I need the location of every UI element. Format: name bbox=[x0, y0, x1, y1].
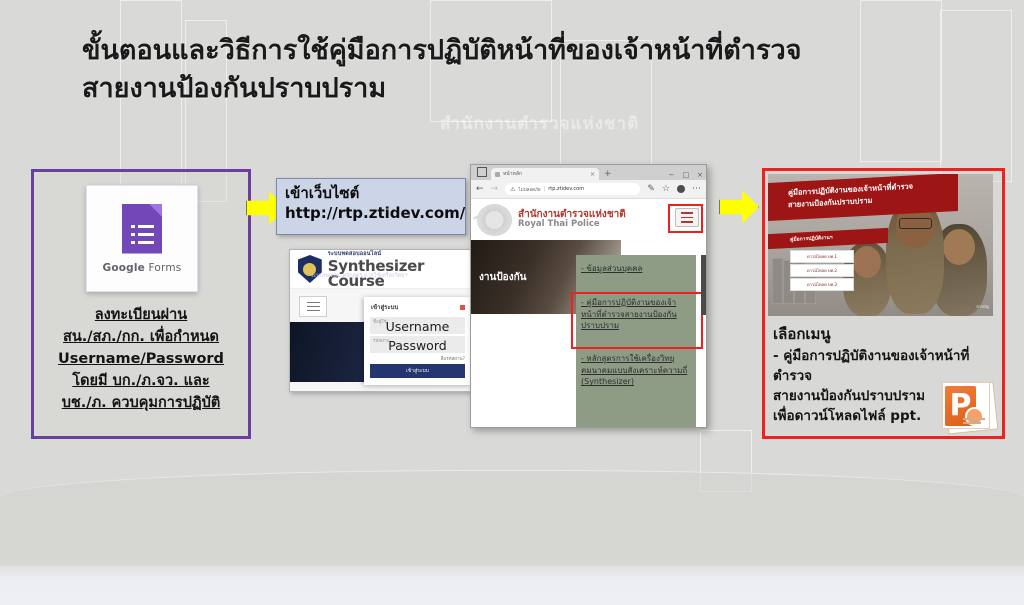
browser-tab-bar: หน้าหลัก × + − □ × bbox=[471, 165, 706, 180]
password-value: Password bbox=[370, 338, 465, 353]
browser-app-icon bbox=[477, 167, 487, 177]
tab-close-icon[interactable]: × bbox=[590, 171, 595, 178]
google-forms-label-word1: Google bbox=[103, 262, 145, 274]
login-site-titles: ระบบทดสอบออนไลน์ Synthesizer Course bbox=[328, 250, 472, 289]
site-hero-text: งานป้องกัน bbox=[479, 270, 526, 285]
police-emblem-icon bbox=[477, 204, 512, 236]
window-controls: − □ × bbox=[669, 171, 703, 179]
close-icon[interactable] bbox=[460, 305, 465, 310]
menu-item-personal-info[interactable]: - ข้อมูลส่วนบุคคล bbox=[576, 263, 696, 275]
step1-caption-line: ลงทะเบียนผ่าน bbox=[38, 304, 244, 326]
hamburger-highlight-box bbox=[668, 204, 703, 233]
website-url-label: เข้าเว็บไซต์ bbox=[285, 184, 465, 204]
login-dialog-title: เข้าสู่ระบบ bbox=[371, 302, 398, 312]
bg-building-shape bbox=[940, 10, 1012, 182]
address-bar[interactable]: ⚠ ไม่ปลอดภัย | rtp.ztidev.com bbox=[505, 183, 640, 195]
manual-corner-tag: สารบัญ bbox=[976, 303, 989, 310]
hamburger-menu-icon[interactable] bbox=[299, 296, 327, 317]
step1-caption: ลงทะเบียนผ่าน สน./สภ./กก. เพื่อกำหนด Use… bbox=[38, 304, 244, 414]
pencil-icon[interactable]: ✎ bbox=[647, 185, 655, 194]
page-scrollbar[interactable] bbox=[701, 255, 706, 315]
google-forms-card[interactable]: Google Forms bbox=[86, 185, 198, 292]
browser-page-content: สำนักงานตำรวจแห่งชาติ Royal Thai Police … bbox=[471, 199, 706, 428]
website-url-box: เข้าเว็บไซต์ http://rtp.ztidev.com/ bbox=[276, 178, 466, 235]
powerpoint-icon: P bbox=[940, 380, 996, 432]
step4-caption-header: เลือกเมนู bbox=[773, 323, 996, 346]
website-url-value: http://rtp.ztidev.com/ bbox=[285, 204, 465, 224]
login-site-header: ระบบทดสอบออนไลน์ Synthesizer Course bbox=[290, 250, 472, 289]
page-title-line2: สายงานป้องกันปราบปราม bbox=[82, 70, 882, 108]
kebab-menu-icon[interactable]: ⋯ bbox=[692, 185, 701, 194]
page-title: ขั้นตอนและวิธีการใช้คู่มือการปฏิบัติหน้า… bbox=[82, 32, 882, 109]
address-bar-url: rtp.ztidev.com bbox=[548, 186, 584, 192]
tab-favicon bbox=[495, 172, 500, 177]
login-hero-text: ระบบทดสอบ หลักสูตร การใช้เครื่องวิทยุฯ bbox=[304, 272, 414, 281]
new-tab-button[interactable]: + bbox=[604, 170, 612, 179]
forward-button[interactable]: → bbox=[491, 185, 499, 194]
forgot-password-link[interactable]: ลืมรหัสผ่าน? bbox=[364, 355, 465, 362]
username-value: Username bbox=[370, 319, 465, 334]
step1-panel: Google Forms ลงทะเบียนผ่าน สน./สภ./กก. เ… bbox=[31, 169, 251, 439]
window-close-button[interactable]: × bbox=[697, 171, 703, 179]
browser-window-screenshot: หน้าหลัก × + − □ × ← → ⚠ ไม่ปลอดภัย | rt… bbox=[470, 164, 707, 428]
step4-panel: STANDARD M คู่มือการปฏิบัติงานของเจ้าหน้… bbox=[762, 168, 1005, 439]
step1-caption-line: บช./ภ. ควบคุมการปฏิบัติ bbox=[38, 392, 244, 414]
google-forms-label-word2: Forms bbox=[149, 262, 182, 274]
menu-item-synthesizer-course[interactable]: - หลักสูตรการใช้เครื่องวิทยุคมนาคมแบบสัง… bbox=[576, 353, 696, 388]
login-dialog: เข้าสู่ระบบ ชื่อผู้ใช้ Username รหัสผ่าน… bbox=[364, 297, 471, 385]
tab-title: หน้าหลัก bbox=[503, 170, 587, 178]
login-screenshot: ระบบทดสอบออนไลน์ Synthesizer Course ระบบ… bbox=[289, 249, 473, 392]
download-button[interactable]: ดาวน์โหลด บท.3 bbox=[790, 278, 854, 291]
login-dialog-header: เข้าสู่ระบบ bbox=[364, 297, 471, 315]
page-title-line1: ขั้นตอนและวิธีการใช้คู่มือการปฏิบัติหน้า… bbox=[82, 35, 801, 66]
step1-caption-line: โดยมี บก./ภ.จว. และ bbox=[38, 370, 244, 392]
download-button[interactable]: ดาวน์โหลด บท.2 bbox=[790, 264, 854, 277]
login-submit-button[interactable]: เข้าสู่ระบบ bbox=[370, 364, 465, 378]
username-field[interactable]: ชื่อผู้ใช้ Username bbox=[370, 317, 465, 334]
avatar-icon[interactable] bbox=[677, 185, 685, 193]
background-watermark: สำนักงานตำรวจแห่งชาติ bbox=[440, 110, 639, 137]
browser-nav-bar: ← → ⚠ ไม่ปลอดภัย | rtp.ztidev.com ✎ ☆ ⋯ bbox=[471, 180, 706, 199]
address-separator: | bbox=[544, 186, 546, 192]
bg-ground-shape bbox=[0, 470, 1024, 566]
window-minimize-button[interactable]: − bbox=[669, 171, 675, 179]
google-forms-label: Google Forms bbox=[103, 262, 182, 274]
step1-caption-line: Username/Password bbox=[38, 348, 244, 370]
site-header-titles: สำนักงานตำรวจแห่งชาติ Royal Thai Police bbox=[518, 209, 626, 230]
org-title-en: Royal Thai Police bbox=[518, 220, 626, 230]
browser-tab[interactable]: หน้าหลัก × bbox=[491, 168, 599, 180]
officer-figure bbox=[886, 198, 944, 314]
step1-caption-line: สน./สภ./กก. เพื่อกำหนด bbox=[38, 326, 244, 348]
window-maximize-button[interactable]: □ bbox=[683, 171, 690, 179]
download-button[interactable]: ดาวน์โหลด บท.1 bbox=[790, 250, 854, 263]
back-button[interactable]: ← bbox=[476, 185, 484, 194]
manual-sub-banner-text: คู่มือการปฏิบัติงานฯ bbox=[790, 234, 833, 244]
security-label: ไม่ปลอดภัย bbox=[518, 186, 540, 193]
google-forms-icon bbox=[122, 204, 162, 254]
photo-rank-shape bbox=[772, 258, 783, 304]
manual-page-screenshot: STANDARD M คู่มือการปฏิบัติงานของเจ้าหน้… bbox=[768, 174, 993, 316]
password-field[interactable]: รหัสผ่าน Password bbox=[370, 336, 465, 353]
star-icon[interactable]: ☆ bbox=[662, 185, 670, 194]
menu-highlight-box bbox=[571, 292, 703, 349]
warning-icon: ⚠ bbox=[510, 186, 515, 193]
